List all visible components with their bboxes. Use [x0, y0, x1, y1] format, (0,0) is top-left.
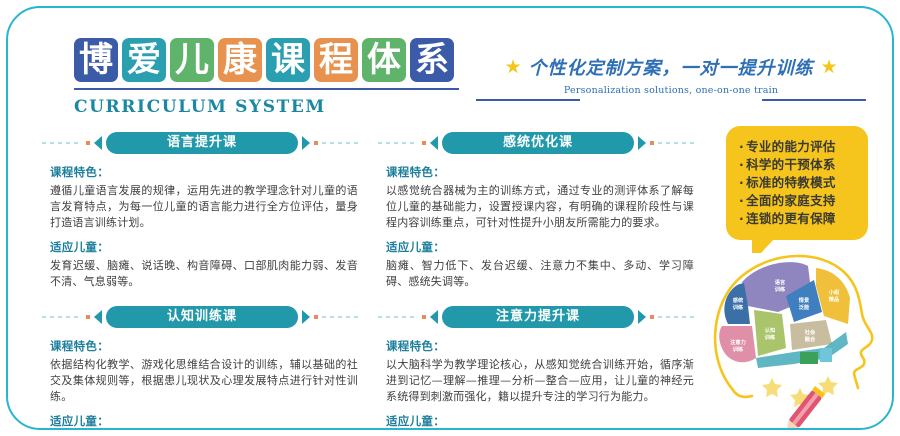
feature-text: 遵循儿童语言发展的规律，运用先进的教学理念针对儿童的语言发育特点，为每一位儿童的… — [50, 183, 358, 231]
star-icon — [762, 376, 838, 407]
puzzle-label: 训练 — [733, 303, 744, 311]
arrow-left-icon — [430, 310, 438, 324]
square-marker — [650, 315, 654, 319]
course-row-1: 语言提升课 课程特色： 遵循儿童语言发展的规律，运用先进的教学理念针对儿童的语言… — [42, 132, 702, 290]
feature-text: 以大脑科学为教学理论核心，从感知觉统合训练开始，循序渐进到记忆—理解—推理—分析… — [386, 357, 694, 405]
head-chin — [733, 390, 752, 397]
target-text: 发育迟缓、脑瘫、说话晚、构音障碍、口部肌肉能力弱、发音不清、气息弱等。 — [50, 258, 358, 290]
course-header: 语言提升课 — [42, 132, 362, 154]
puzzle-label: 语言 — [775, 278, 786, 286]
course-grid: 语言提升课 课程特色： 遵循儿童语言发展的规律，运用先进的教学理念针对儿童的语言… — [42, 132, 702, 430]
puzzle-label: 情景 — [798, 296, 810, 304]
logo-char-5: 程 — [314, 38, 358, 82]
logo-divider — [74, 88, 459, 90]
logo-char-4: 课 — [266, 38, 310, 82]
star-icon: ★ — [504, 58, 521, 77]
puzzle-piece-cyan — [820, 348, 832, 362]
square-marker — [86, 315, 90, 319]
dotted-rule — [42, 316, 82, 318]
slogan-rules — [476, 99, 866, 101]
puzzle-label: 精品 — [829, 295, 839, 303]
square-marker — [86, 141, 90, 145]
course-header: 认知训练课 — [42, 306, 362, 328]
arrow-right-icon — [638, 136, 646, 150]
benefit-item-0: 专业的能力评估 — [739, 138, 858, 156]
course-card-language: 语言提升课 课程特色： 遵循儿童语言发展的规律，运用先进的教学理念针对儿童的语言… — [42, 132, 362, 290]
square-marker — [650, 141, 654, 145]
pencil-icon — [781, 386, 825, 430]
puzzle-label: 感统 — [733, 296, 744, 304]
poster-frame: 博爱儿康课程体系 CURRICULUM SYSTEM ★ 个性化定制方案，一对一… — [6, 6, 894, 430]
brand-logo: 博爱儿康课程体系 CURRICULUM SYSTEM — [74, 38, 464, 117]
puzzle-label: 注意力 — [730, 338, 746, 346]
dotted-rule — [658, 142, 698, 144]
course-card-attention: 注意力提升课 课程特色： 以大脑科学为教学理论核心，从感知觉统合训练开始，循序渐… — [378, 306, 698, 430]
square-marker — [314, 141, 318, 145]
feature-label: 课程特色： — [50, 338, 358, 354]
slogan-cn: 个性化定制方案，一对一提升训练 — [529, 54, 814, 80]
square-marker — [422, 315, 426, 319]
feature-label: 课程特色： — [386, 338, 694, 354]
benefit-item-1: 科学的干预体系 — [739, 156, 858, 174]
course-title: 认知训练课 — [106, 306, 298, 328]
course-card-sensory: 感统优化课 课程特色： 以感觉统合器械为主的训练方式，通过专业的测评体系了解每位… — [378, 132, 698, 290]
puzzle-piece-green — [800, 352, 818, 364]
puzzle-label: 融合 — [805, 335, 816, 343]
star-icon: ★ — [821, 58, 838, 77]
puzzle-label: 训练 — [765, 333, 776, 341]
arrow-right-icon — [302, 310, 310, 324]
arrow-left-icon — [430, 136, 438, 150]
course-card-cognitive: 认知训练课 课程特色： 依据结构化教学、游戏化思维结合设计的训练，辅以基础的社交… — [42, 306, 362, 430]
arrow-left-icon — [94, 310, 102, 324]
puzzle-label: 小组 — [829, 288, 840, 296]
dotted-rule — [42, 142, 82, 144]
square-marker — [422, 141, 426, 145]
arrow-left-icon — [94, 136, 102, 150]
arrow-right-icon — [638, 310, 646, 324]
target-label: 适应儿童： — [50, 413, 358, 429]
puzzle-label: 社会 — [804, 328, 816, 336]
feature-label: 课程特色： — [50, 164, 358, 180]
course-row-2: 认知训练课 课程特色： 依据结构化教学、游戏化思维结合设计的训练，辅以基础的社交… — [42, 306, 702, 430]
target-text: 脑瘫、智力低下、发台迟缓、注意力不集中、多动、学习障碍、感统失调等。 — [386, 258, 694, 290]
course-title: 感统优化课 — [442, 132, 634, 154]
benefit-item-2: 标准的特教模式 — [739, 174, 858, 192]
square-marker — [314, 315, 318, 319]
benefit-item-3: 全面的家庭支持 — [739, 192, 858, 210]
target-label: 适应儿童： — [50, 239, 358, 255]
course-title: 注意力提升课 — [442, 306, 634, 328]
dotted-rule — [378, 142, 418, 144]
course-title: 语言提升课 — [106, 132, 298, 154]
dotted-rule — [322, 316, 362, 318]
brain-svg: 语言训练感统训练注意力训练认知训练情景泛能小组精品社会融合 — [708, 240, 894, 430]
course-header: 感统优化课 — [378, 132, 698, 154]
feature-text: 以感觉统合器械为主的训练方式，通过专业的测评体系了解每位儿童的基础能力，设置授课… — [386, 183, 694, 231]
logo-char-6: 体 — [362, 38, 406, 82]
arrow-right-icon — [302, 136, 310, 150]
logo-char-1: 爱 — [122, 38, 166, 82]
logo-char-0: 博 — [74, 38, 118, 82]
dotted-rule — [658, 316, 698, 318]
feature-label: 课程特色： — [386, 164, 694, 180]
logo-char-2: 儿 — [170, 38, 214, 82]
feature-text: 依据结构化教学、游戏化思维结合设计的训练，辅以基础的社交及集体规则等，根据患儿现… — [50, 357, 358, 405]
logo-char-7: 系 — [410, 38, 454, 82]
benefits-callout: 专业的能力评估科学的干预体系标准的特教模式全面的家庭支持连锁的更有保障 — [726, 126, 868, 240]
header: 博爱儿康课程体系 CURRICULUM SYSTEM ★ 个性化定制方案，一对一… — [8, 8, 892, 124]
puzzle-label: 认知 — [765, 326, 775, 334]
logo-character-row: 博爱儿康课程体系 — [74, 38, 464, 82]
dotted-rule — [322, 142, 362, 144]
benefit-item-4: 连锁的更有保障 — [739, 210, 858, 228]
puzzle-piece-group — [816, 268, 850, 324]
logo-char-3: 康 — [218, 38, 262, 82]
puzzle-label: 训练 — [733, 345, 744, 353]
brain-puzzle-illustration: 语言训练感统训练注意力训练认知训练情景泛能小组精品社会融合 — [708, 240, 894, 430]
slogan-en: Personalization solutions, one-on-one tr… — [476, 85, 866, 96]
course-header: 注意力提升课 — [378, 306, 698, 328]
dotted-rule — [378, 316, 418, 318]
puzzle-label: 泛能 — [799, 303, 810, 311]
puzzle-label: 训练 — [775, 285, 786, 293]
slogan: ★ 个性化定制方案，一对一提升训练 ★ Personalization solu… — [476, 54, 866, 101]
logo-subtitle-en: CURRICULUM SYSTEM — [74, 97, 464, 117]
benefits-list: 专业的能力评估科学的干预体系标准的特教模式全面的家庭支持连锁的更有保障 — [739, 138, 858, 228]
target-label: 适应儿童： — [386, 413, 694, 429]
target-label: 适应儿童： — [386, 239, 694, 255]
